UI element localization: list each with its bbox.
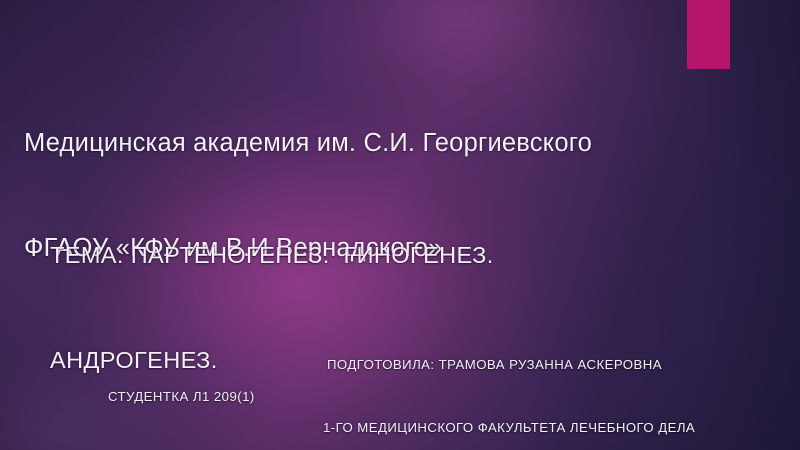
presentation-slide: Медицинская академия им. С.И. Георгиевск… <box>0 0 800 450</box>
credit-student-group: СТУДЕНТКА Л1 209(1) <box>108 389 255 404</box>
organization-title-line-1: Медицинская академия им. С.И. Георгиевск… <box>24 126 592 161</box>
credit-faculty: 1-ГО МЕДИЦИНСКОГО ФАКУЛЬТЕТА ЛЕЧЕБНОГО Д… <box>323 420 695 435</box>
credit-author: ПОДГОТОВИЛА: ТРАМОВА РУЗАННА АСКЕРОВНА <box>327 357 662 372</box>
topic-heading: ТЕМА: ПАРТЕНОГЕНЕЗ. ГИНОГЕНЕЗ. АНДРОГЕНЕ… <box>50 168 494 448</box>
topic-heading-line-1: ТЕМА: ПАРТЕНОГЕНЕЗ. ГИНОГЕНЕЗ. <box>50 238 494 273</box>
magenta-accent-bar <box>687 0 730 69</box>
